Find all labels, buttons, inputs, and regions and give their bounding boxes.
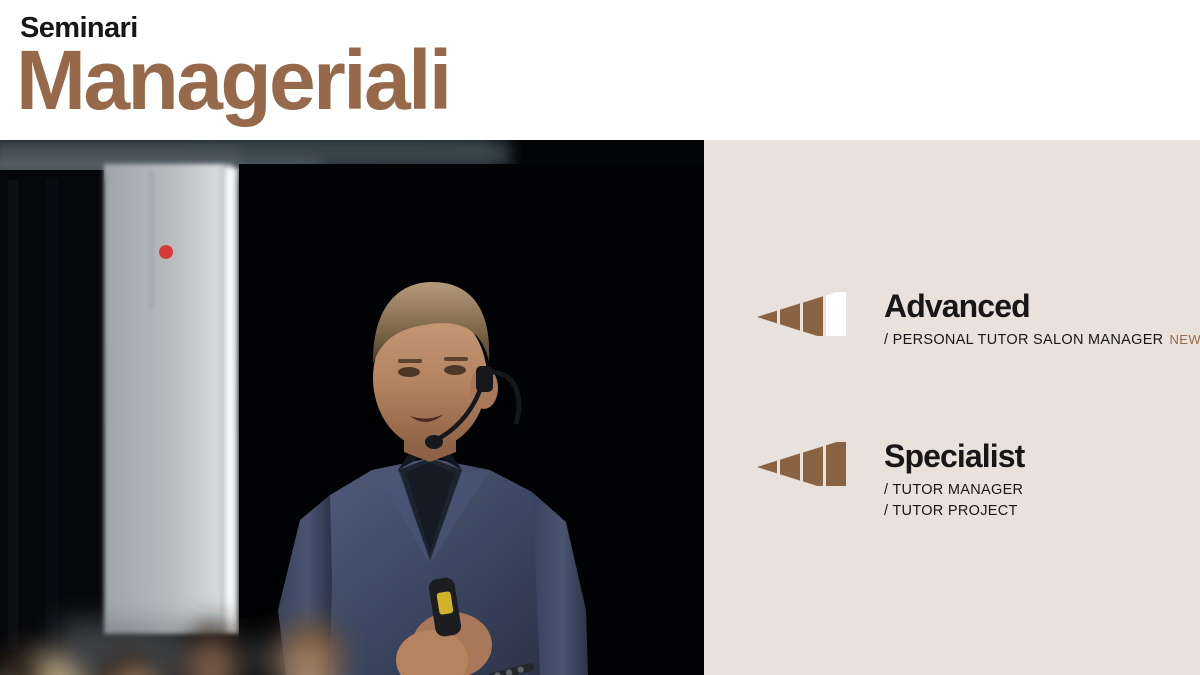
- course-label: / TUTOR MANAGER: [884, 482, 1023, 498]
- led-indicator-dot: [159, 245, 173, 259]
- level-advanced-text: Advanced / PERSONAL TUTOR SALON MANAGERN…: [884, 290, 1200, 351]
- level-advanced-course-list: / PERSONAL TUTOR SALON MANAGERNEW: [884, 330, 1200, 351]
- stage-photo-illustration: [0, 140, 704, 675]
- level-specialist-text: Specialist / TUTOR MANAGER / TUTOR PROJE…: [884, 440, 1200, 523]
- list-item[interactable]: / TUTOR PROJECT: [884, 501, 1200, 522]
- status-badge: NEW: [1169, 332, 1200, 347]
- levels-panel: Advanced / PERSONAL TUTOR SALON MANAGERN…: [704, 140, 1200, 675]
- level-specialist-title: Specialist: [884, 440, 1200, 474]
- chevron-arrow-advanced-icon: [756, 292, 856, 336]
- course-label: / PERSONAL TUTOR SALON MANAGER: [884, 332, 1163, 348]
- chevron-arrow-specialist-icon: [756, 442, 856, 486]
- level-advanced-title: Advanced: [884, 290, 1200, 324]
- level-specialist-course-list: / TUTOR MANAGER / TUTOR PROJECT: [884, 480, 1200, 523]
- page-title: Manageriali: [16, 38, 450, 122]
- list-item[interactable]: / TUTOR MANAGER: [884, 480, 1200, 501]
- header-band: Seminari Manageriali: [0, 0, 1200, 140]
- list-item[interactable]: / PERSONAL TUTOR SALON MANAGERNEW: [884, 330, 1200, 351]
- course-label: / TUTOR PROJECT: [884, 503, 1018, 519]
- stage-photo: [0, 140, 704, 675]
- slide-root: Seminari Manageriali: [0, 0, 1200, 675]
